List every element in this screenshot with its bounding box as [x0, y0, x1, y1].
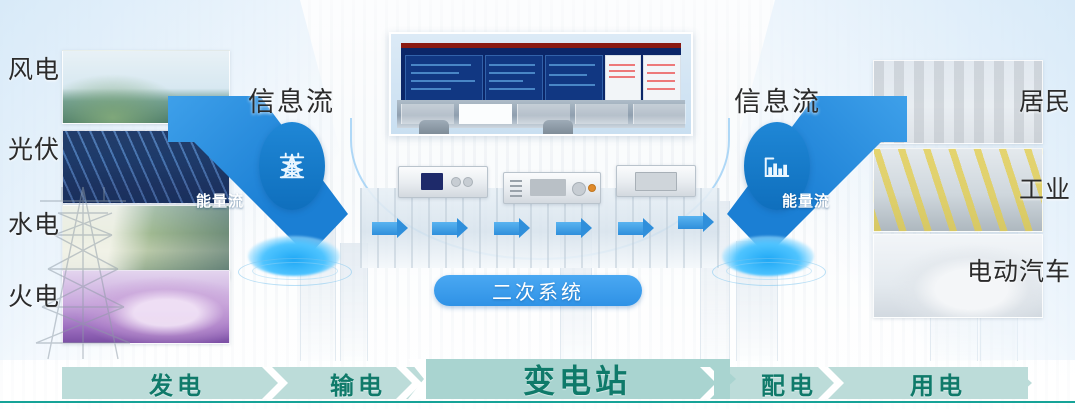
load-photo-industrial — [873, 148, 1043, 232]
chevron-head-substation — [714, 359, 740, 399]
info-flow-label-left: 信息流 — [248, 80, 335, 119]
chevron-notch — [262, 367, 298, 399]
energy-flow-label-right: 能量流 — [782, 190, 830, 211]
protection-relay-device-1[interactable] — [398, 166, 488, 198]
bar-baseline — [0, 401, 1075, 403]
info-flow-label-right: 信息流 — [734, 80, 821, 119]
city-buildings-icon — [762, 151, 792, 181]
chevron-label-generation: 发电 — [149, 366, 205, 401]
chevron-label-distribution: 配电 — [761, 366, 817, 401]
diagram-canvas: 风电 光伏 水电 火电 居民 工业 电动汽车 能量流 能量流 信息流 — [0, 0, 1075, 409]
chevron-label-transmission: 输电 — [330, 366, 386, 401]
glow-platform-right — [712, 232, 824, 290]
chevron-label-substation: 变电站 — [523, 356, 631, 402]
load-label-residential: 居民 — [1019, 82, 1071, 118]
power-flow-arrow — [432, 222, 458, 235]
load-label-ev: 电动汽车 — [967, 252, 1071, 288]
video-wall — [401, 43, 681, 106]
info-flow-oval-left[interactable] — [259, 122, 325, 210]
power-flow-arrow — [678, 216, 704, 229]
process-chevron-bar: 发电 输电 变电站 配电 用电 — [0, 353, 1075, 403]
communication-device-3[interactable] — [616, 165, 696, 197]
consumption-loads: 居民 工业 电动汽车 — [845, 52, 1075, 322]
chevron-substation[interactable]: 变电站 — [424, 359, 730, 399]
source-label-wind: 风电 — [8, 50, 60, 86]
source-label-thermal: 火电 — [8, 277, 60, 313]
secondary-system-badge[interactable]: 二次系统 — [434, 275, 642, 306]
measurement-device-2[interactable] — [503, 172, 601, 204]
transmission-tower-icon — [277, 151, 307, 181]
chevron-head-end — [1014, 367, 1036, 399]
power-flow-arrow — [556, 222, 582, 235]
chevron-generation[interactable]: 发电 — [62, 367, 292, 399]
energy-flow-label-left: 能量流 — [196, 190, 244, 211]
source-label-solar: 光伏 — [8, 130, 60, 166]
chevron-notch — [818, 367, 854, 399]
load-label-industrial: 工业 — [1019, 170, 1071, 206]
power-flow-arrow — [494, 222, 520, 235]
chevron-utilization[interactable]: 用电 — [848, 367, 1028, 399]
secondary-system-label: 二次系统 — [492, 276, 584, 305]
chevron-label-utilization: 用电 — [910, 366, 966, 401]
power-flow-arrow — [618, 222, 644, 235]
source-label-hydro: 水电 — [8, 205, 60, 241]
power-flow-arrow — [372, 222, 398, 235]
glow-platform-left — [238, 232, 350, 290]
chevron-tail-substation — [408, 359, 428, 399]
